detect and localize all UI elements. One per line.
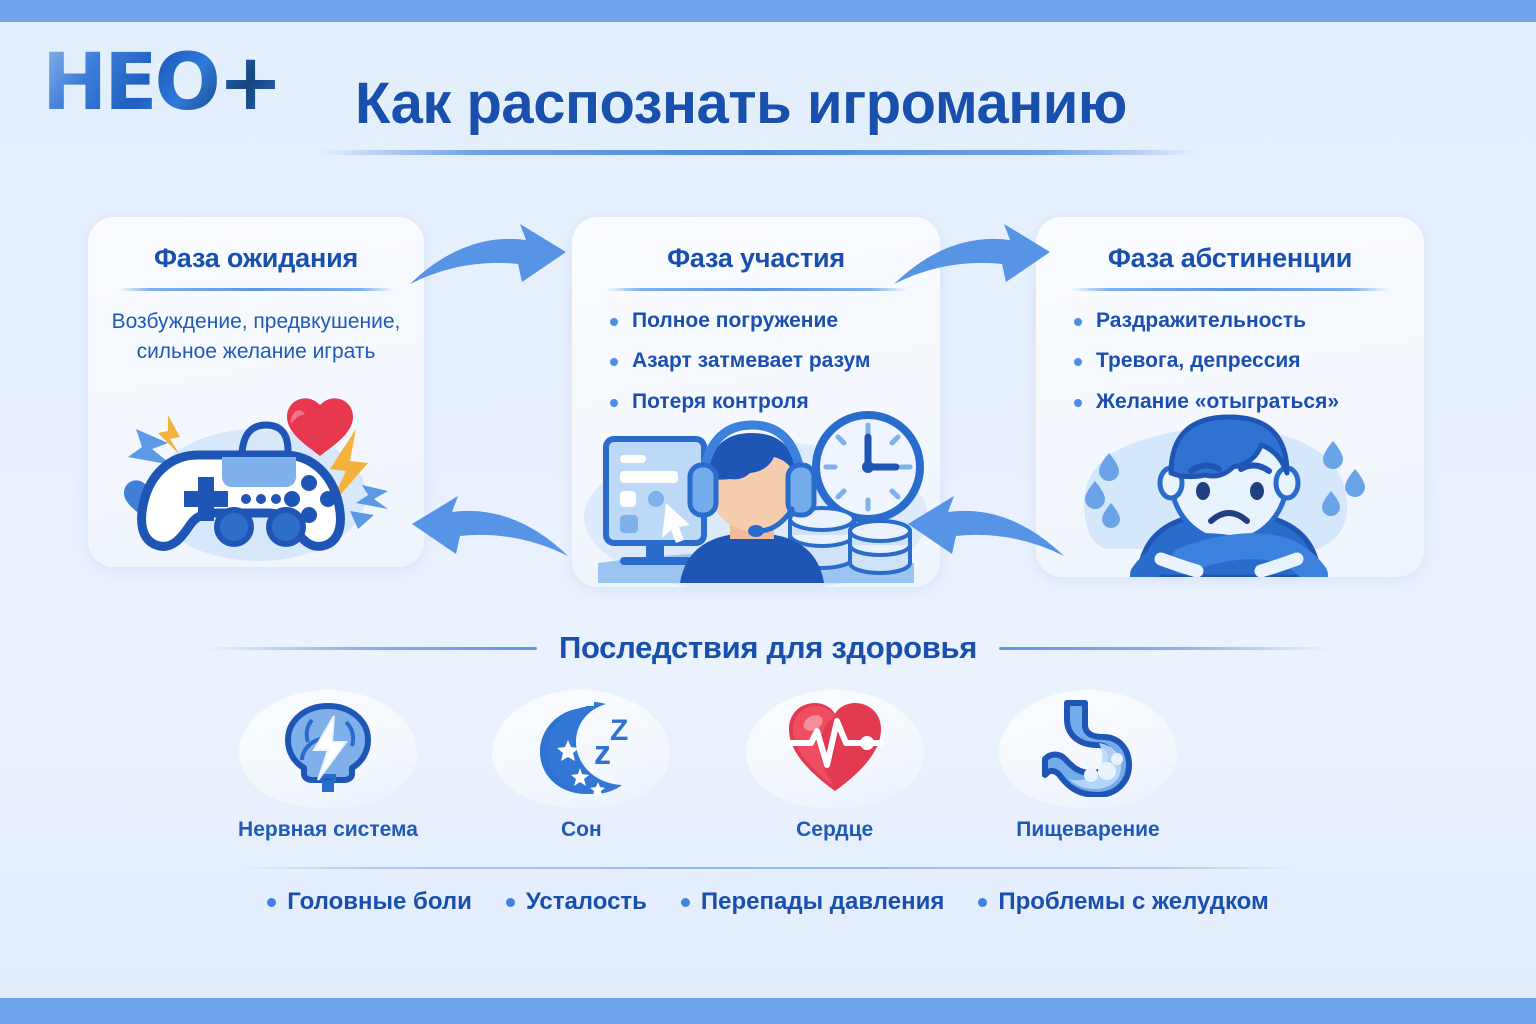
list-item: Раздражительность	[1070, 307, 1402, 335]
symptom-label: Головные боли	[287, 888, 472, 916]
list-item: Головные боли	[267, 888, 472, 916]
list-item: Проблемы с желудком	[978, 888, 1268, 916]
list-item: Тревога, депрессия	[1070, 347, 1402, 375]
phase-bullet-list: Полное погружение Азарт затмевает разум …	[594, 307, 918, 416]
arrow-left-phase2-to-phase1	[404, 494, 574, 571]
health-item-label: Пищеварение	[1016, 818, 1160, 842]
symptoms-row: Головные боли Усталость Перепады давлени…	[0, 888, 1536, 916]
moon-zzz-icon: z Z	[528, 698, 634, 801]
brand-logo: НЕО+	[42, 44, 280, 122]
bullet-dot-icon	[506, 898, 515, 907]
sad-person-illustration	[1036, 407, 1424, 577]
icon-blob	[999, 690, 1177, 808]
phase-card-body: Полное погружение Азарт затмевает разум …	[572, 291, 940, 416]
header: НЕО+ Как распознать игроманию	[0, 22, 1536, 142]
gamer-monitor-clock-coins-illustration	[572, 407, 940, 587]
title-underline-divider	[318, 150, 1198, 155]
symptom-label: Проблемы с желудком	[998, 888, 1268, 916]
bullet-dot-icon	[978, 898, 987, 907]
phase-card-paragraph: Возбуждение, предвкушение, сильное желан…	[110, 307, 402, 367]
infographic-poster: НЕО+ Как распознать игроманию Фаза ожида…	[0, 0, 1536, 1024]
phase-card-title: Фаза ожидания	[88, 243, 424, 274]
health-item-sleep: z Z Сон	[481, 690, 681, 842]
bullet-dot-icon	[267, 898, 276, 907]
health-item-label: Нервная система	[238, 818, 418, 842]
symptom-label: Перепады давления	[701, 888, 944, 916]
gamepad-hearts-illustration	[88, 387, 424, 567]
phase-card-title: Фаза абстиненции	[1036, 243, 1424, 274]
heading-rule-right	[999, 647, 1329, 650]
health-item-label: Сон	[561, 818, 602, 842]
phase-card-withdrawal: Фаза абстиненции Раздражительность Трево…	[1036, 217, 1424, 577]
health-item-digestion: Пищеварение	[988, 690, 1188, 842]
icon-blob: z Z	[492, 690, 670, 808]
list-item: Азарт затмевает разум	[606, 347, 918, 375]
bullet-dot-icon	[681, 898, 690, 907]
svg-text:Z: Z	[610, 714, 628, 747]
health-item-label: Сердце	[796, 818, 873, 842]
phase-card-title: Фаза участия	[572, 243, 940, 274]
symptoms-divider	[238, 867, 1300, 869]
phase-card-body: Возбуждение, предвкушение, сильное желан…	[88, 291, 424, 367]
symptom-label: Усталость	[526, 888, 647, 916]
consequences-title: Последствия для здоровья	[559, 630, 977, 666]
phase-bullet-list: Раздражительность Тревога, депрессия Жел…	[1058, 307, 1402, 416]
health-item-nervous-system: Нервная система	[228, 690, 428, 842]
svg-text:z: z	[594, 734, 611, 772]
list-item: Полное погружение	[606, 307, 918, 335]
list-item: Перепады давления	[681, 888, 944, 916]
list-item: Усталость	[506, 888, 647, 916]
icon-blob	[746, 690, 924, 808]
brain-lightning-icon	[276, 698, 380, 801]
consequences-heading: Последствия для здоровья	[0, 630, 1536, 666]
phase-card-anticipation: Фаза ожидания Возбуждение, предвкушение,…	[88, 217, 424, 567]
heading-rule-left	[207, 647, 537, 650]
stomach-icon	[1039, 697, 1137, 802]
health-consequences-row: Нервная система z Z	[228, 690, 1188, 842]
icon-blob	[239, 690, 417, 808]
phase-card-body: Раздражительность Тревога, депрессия Жел…	[1036, 291, 1424, 416]
health-item-heart: Сердце	[735, 690, 935, 842]
arrow-right-phase1-to-phase2	[404, 222, 574, 299]
arrow-left-phase3-to-phase2	[900, 494, 1070, 571]
arrow-right-phase2-to-phase3	[888, 222, 1058, 299]
phase-card-participation: Фаза участия Полное погружение Азарт зат…	[572, 217, 940, 587]
heart-pulse-icon	[783, 699, 887, 800]
page-title: Как распознать игроманию	[355, 70, 1127, 137]
